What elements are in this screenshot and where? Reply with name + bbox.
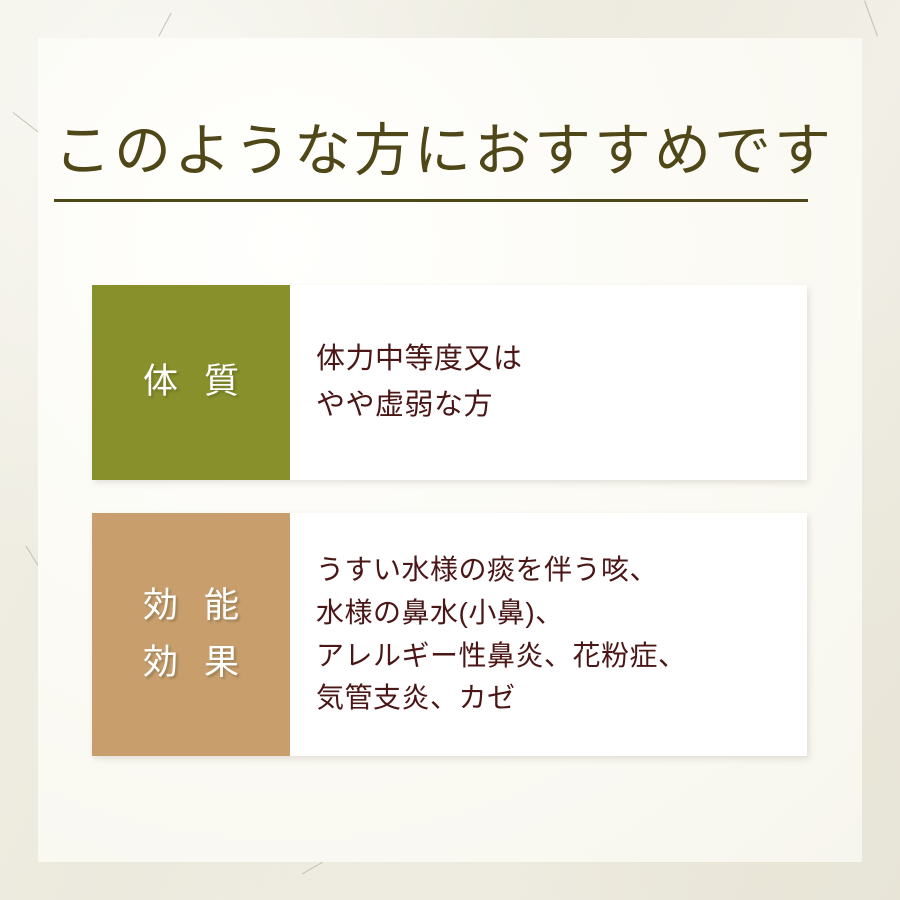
- card-body-constitution: 体力中等度又は やや虚弱な方: [290, 285, 807, 480]
- page-title: このような方におすすめです: [54, 118, 810, 185]
- card-body-line: 水様の鼻水(小鼻)、: [316, 592, 807, 635]
- card-label-line: 効能: [117, 578, 265, 635]
- heading-block: このような方におすすめです: [54, 118, 810, 202]
- paper-fiber: [864, 0, 878, 36]
- card-body-efficacy: うすい水様の痰を伴う咳、 水様の鼻水(小鼻)、 アレルギー性鼻炎、花粉症、 気管…: [290, 513, 807, 756]
- card-body-line: 体力中等度又は: [316, 337, 807, 383]
- paper-fiber: [158, 13, 171, 36]
- card-label-efficacy: 効能 効果: [92, 513, 290, 756]
- card-body-line: アレルギー性鼻炎、花粉症、: [316, 635, 807, 678]
- info-card-constitution: 体質 体力中等度又は やや虚弱な方: [92, 285, 807, 480]
- card-body-line: 気管支炎、カゼ: [316, 677, 807, 720]
- card-body-line: やや虚弱な方: [316, 383, 807, 429]
- card-body-line: うすい水様の痰を伴う咳、: [316, 549, 807, 592]
- card-label-constitution: 体質: [92, 285, 290, 480]
- heading-divider: [54, 199, 808, 202]
- info-card-efficacy: 効能 効果 うすい水様の痰を伴う咳、 水様の鼻水(小鼻)、 アレルギー性鼻炎、花…: [92, 513, 807, 756]
- poster-page: このような方におすすめです 体質 体力中等度又は やや虚弱な方 効能 効果 うす…: [0, 0, 900, 900]
- card-label-line: 体質: [117, 354, 265, 411]
- card-label-line: 効果: [117, 635, 265, 692]
